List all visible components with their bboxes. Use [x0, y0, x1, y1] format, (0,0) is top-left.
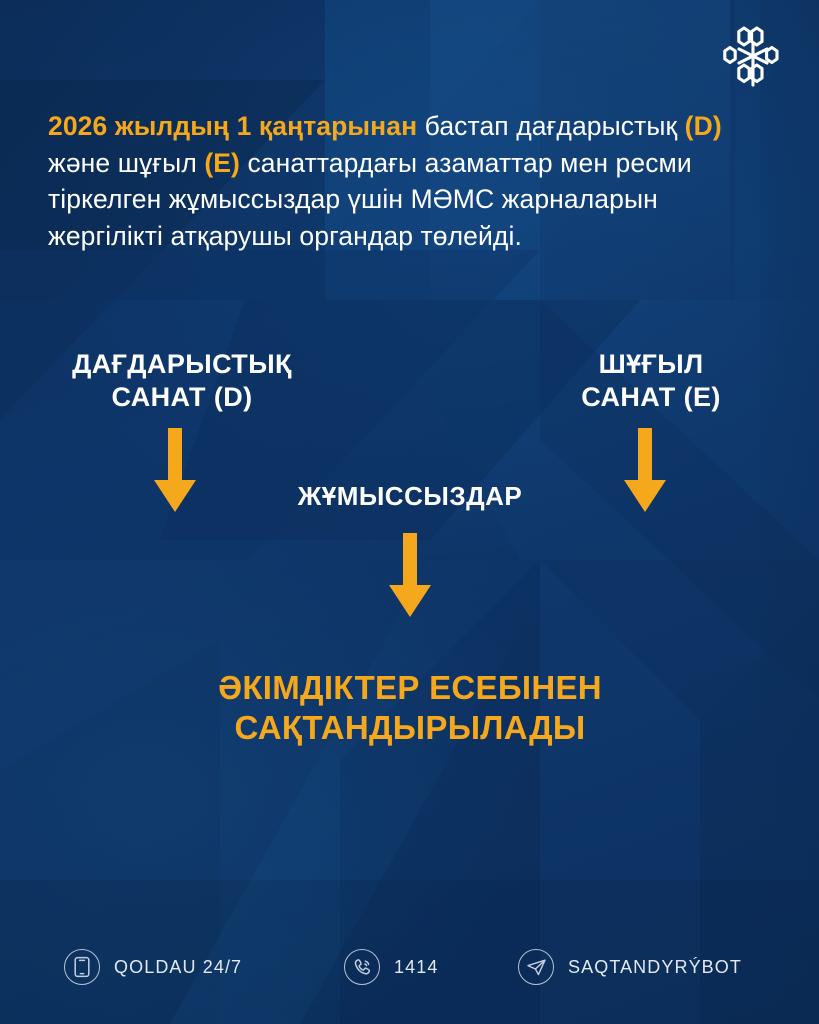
- snowflake-logo-icon: [721, 22, 785, 90]
- final-statement-line2: САҚТАНДЫРЫЛАДЫ: [90, 708, 730, 748]
- footer-contacts: QOLDAU 24/7 1414: [0, 938, 819, 996]
- final-statement-line1: ӘКІМДІКТЕР ЕСЕБІНЕН: [90, 668, 730, 708]
- phone-call-icon: [344, 949, 380, 985]
- category-left-line1: ДАҒДАРЫСТЫҚ: [38, 348, 326, 381]
- intro-paragraph: 2026 жылдың 1 қаңтарынан бастап дағдарыс…: [48, 108, 778, 254]
- intro-highlight-date: 2026 жылдың 1 қаңтарынан: [48, 111, 417, 141]
- smartphone-icon: [64, 949, 100, 985]
- footer-label-telegram-bot: SAQTANDYRÝBOT: [568, 957, 742, 978]
- footer-label-qoldau: QOLDAU 24/7: [114, 957, 242, 978]
- infographic-poster: 2026 жылдың 1 қаңтарынан бастап дағдарыс…: [0, 0, 819, 1024]
- final-statement: ӘКІМДІКТЕР ЕСЕБІНЕН САҚТАНДЫРЫЛАДЫ: [90, 668, 730, 747]
- down-arrow-right-icon: [622, 428, 668, 514]
- intro-line2b: және шұғыл: [48, 148, 204, 178]
- footer-item-hotline[interactable]: 1414: [344, 949, 438, 985]
- category-left-line2: САНАТ (D): [38, 381, 326, 414]
- telegram-plane-icon: [518, 949, 554, 985]
- category-left: ДАҒДАРЫСТЫҚ САНАТ (D): [38, 348, 326, 415]
- category-right-line1: ШҰҒЫЛ: [517, 348, 785, 381]
- intro-line2c: санаттардағы: [240, 148, 417, 178]
- footer-item-telegram-bot[interactable]: SAQTANDYRÝBOT: [518, 949, 742, 985]
- intro-rest1: бастап: [417, 111, 509, 141]
- footer-item-qoldau[interactable]: QOLDAU 24/7: [64, 949, 242, 985]
- down-arrow-middle-icon: [387, 533, 433, 619]
- footer-label-hotline: 1414: [394, 957, 438, 978]
- intro-line2a: дағдарыстық: [516, 111, 684, 141]
- intro-line5: органдар төлейді.: [299, 221, 522, 251]
- intro-code-d: (D): [685, 111, 722, 141]
- category-right: ШҰҒЫЛ САНАТ (E): [517, 348, 785, 415]
- intro-code-e: (E): [204, 148, 240, 178]
- category-right-line2: САНАТ (E): [517, 381, 785, 414]
- middle-label: ЖҰМЫССЫЗДАР: [245, 481, 575, 512]
- down-arrow-left-icon: [152, 428, 198, 514]
